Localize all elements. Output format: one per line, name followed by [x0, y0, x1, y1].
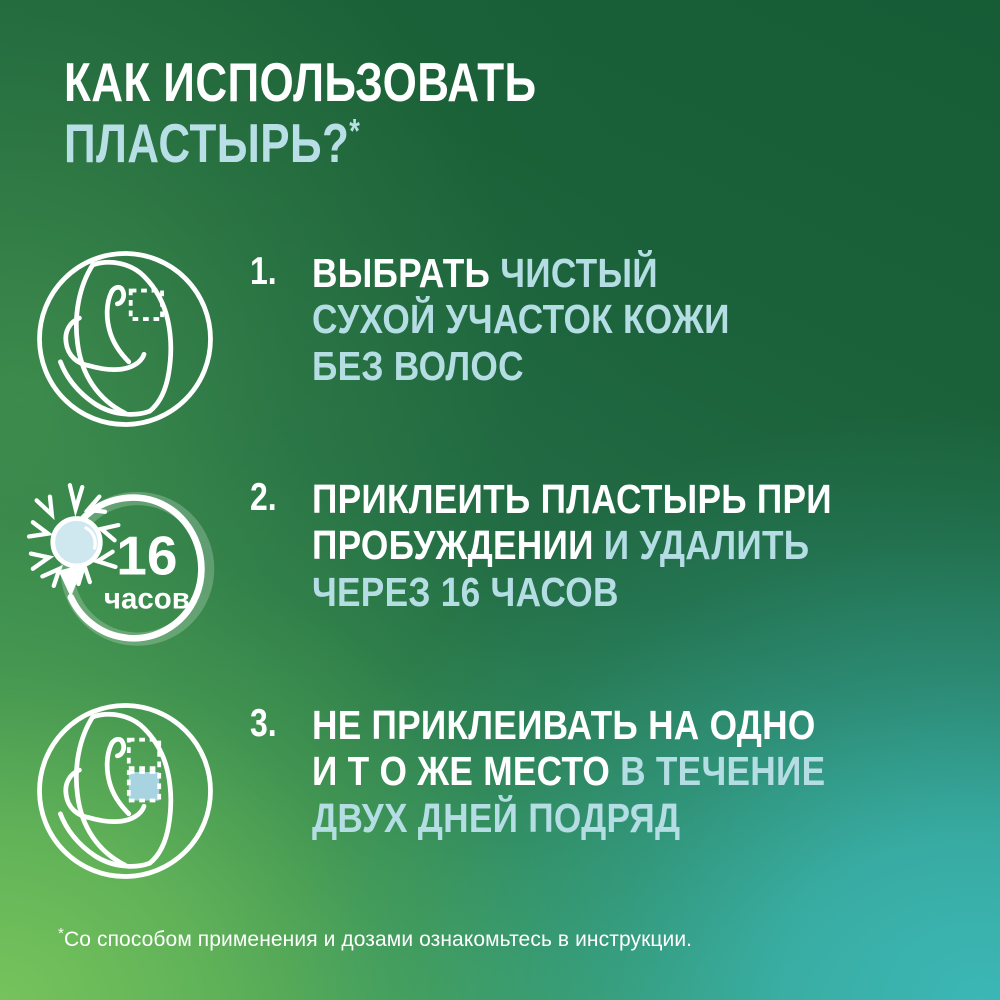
hours-unit: часов: [104, 583, 190, 616]
footnote-text: Со способом применения и дозами ознакомь…: [64, 928, 692, 951]
step-2-body: 2. ПРИКЛЕИТЬ ПЛАСТЫРЬ ПРИ ПРОБУЖДЕНИИ И …: [250, 462, 1000, 615]
step-text-segment: ЧИСТЫЙ: [500, 250, 658, 296]
step-item: 16 часов 2. ПРИКЛЕИТЬ ПЛАСТЫРЬ ПРИ ПРОБУ…: [0, 462, 1000, 680]
step-text: НЕ ПРИКЛЕИВАТЬ НА ОДНО И Т О ЖЕ МЕСТО В …: [312, 702, 966, 841]
step-text-segment: ПРОБУЖДЕНИИ: [312, 522, 604, 568]
step-text-segment: ПРИКЛЕИТЬ ПЛАСТЫРЬ ПРИ: [312, 476, 832, 522]
step-number: 3.: [250, 702, 301, 746]
title-asterisk: *: [349, 113, 360, 151]
page-title: КАК ИСПОЛЬЗОВАТЬ ПЛАСТЫРЬ?*: [64, 56, 944, 171]
arm-two-patch-areas-icon: [30, 696, 220, 886]
step-number: 2.: [250, 476, 301, 520]
step-text: ПРИКЛЕИТЬ ПЛАСТЫРЬ ПРИ ПРОБУЖДЕНИИ И УДА…: [312, 476, 966, 615]
arm-with-patch-area-icon: [30, 244, 220, 434]
step-number: 1.: [250, 250, 301, 294]
step-text-line: БЕЗ ВОЛОС: [312, 343, 966, 389]
hours-number: 16: [116, 525, 177, 587]
step-text-segment: В ТЕЧЕНИЕ: [620, 748, 825, 794]
step-text-segment: НЕ ПРИКЛЕИВАТЬ НА ОДНО: [312, 702, 816, 748]
steps-list: 1. ВЫБРАТЬ ЧИСТЫЙ СУХОЙ УЧАСТОК КОЖИ БЕЗ…: [0, 236, 1000, 906]
step-item: 3. НЕ ПРИКЛЕИВАТЬ НА ОДНО И Т О ЖЕ МЕСТО…: [0, 688, 1000, 906]
sun-16-hours-cycle-icon: 16 часов: [25, 470, 225, 660]
step-1-body: 1. ВЫБРАТЬ ЧИСТЫЙ СУХОЙ УЧАСТОК КОЖИ БЕЗ…: [250, 236, 1000, 389]
step-text-line: ПРОБУЖДЕНИИ И УДАЛИТЬ: [312, 522, 966, 568]
step-3-body: 3. НЕ ПРИКЛЕИВАТЬ НА ОДНО И Т О ЖЕ МЕСТО…: [250, 688, 1000, 841]
step-text-line: ЧЕРЕЗ 16 ЧАСОВ: [312, 569, 966, 615]
step-text-segment: ЧЕРЕЗ 16 ЧАСОВ: [312, 569, 619, 615]
step-text-line: ПРИКЛЕИТЬ ПЛАСТЫРЬ ПРИ: [312, 476, 966, 522]
step-text-segment: ВЫБРАТЬ: [312, 250, 500, 296]
step-text-line: И Т О ЖЕ МЕСТО В ТЕЧЕНИЕ: [312, 748, 966, 794]
step-1-icon-wrap: [0, 236, 250, 434]
title-line-1: КАК ИСПОЛЬЗОВАТЬ: [64, 56, 768, 110]
poster-root: КАК ИСПОЛЬЗОВАТЬ ПЛАСТЫРЬ?* 1: [0, 0, 1000, 1000]
step-text-line: СУХОЙ УЧАСТОК КОЖИ: [312, 296, 966, 342]
step-text-segment: И Т О ЖЕ МЕСТО: [312, 748, 620, 794]
step-3-icon-wrap: [0, 688, 250, 886]
step-text: ВЫБРАТЬ ЧИСТЫЙ СУХОЙ УЧАСТОК КОЖИ БЕЗ ВО…: [312, 250, 966, 389]
footnote: *Со способом применения и дозами ознаком…: [58, 928, 692, 952]
patch-area-filled-dashed-square: [129, 772, 159, 801]
sun-orb-icon: [53, 518, 101, 566]
step-text-segment: СУХОЙ УЧАСТОК КОЖИ: [312, 296, 730, 342]
step-text-segment: И УДАЛИТЬ: [604, 522, 810, 568]
title-line-2: ПЛАСТЫРЬ?*: [64, 117, 768, 171]
step-text-line: ДВУХ ДНЕЙ ПОДРЯД: [312, 795, 966, 841]
step-item: 1. ВЫБРАТЬ ЧИСТЫЙ СУХОЙ УЧАСТОК КОЖИ БЕЗ…: [0, 236, 1000, 454]
step-text-segment: ДВУХ ДНЕЙ ПОДРЯД: [312, 795, 680, 841]
title-line-2-text: ПЛАСТЫРЬ?: [64, 112, 349, 174]
step-text-line: НЕ ПРИКЛЕИВАТЬ НА ОДНО: [312, 702, 966, 748]
step-2-icon-wrap: 16 часов: [0, 462, 250, 660]
step-text-line: ВЫБРАТЬ ЧИСТЫЙ: [312, 250, 966, 296]
step-text-segment: БЕЗ ВОЛОС: [312, 343, 524, 389]
